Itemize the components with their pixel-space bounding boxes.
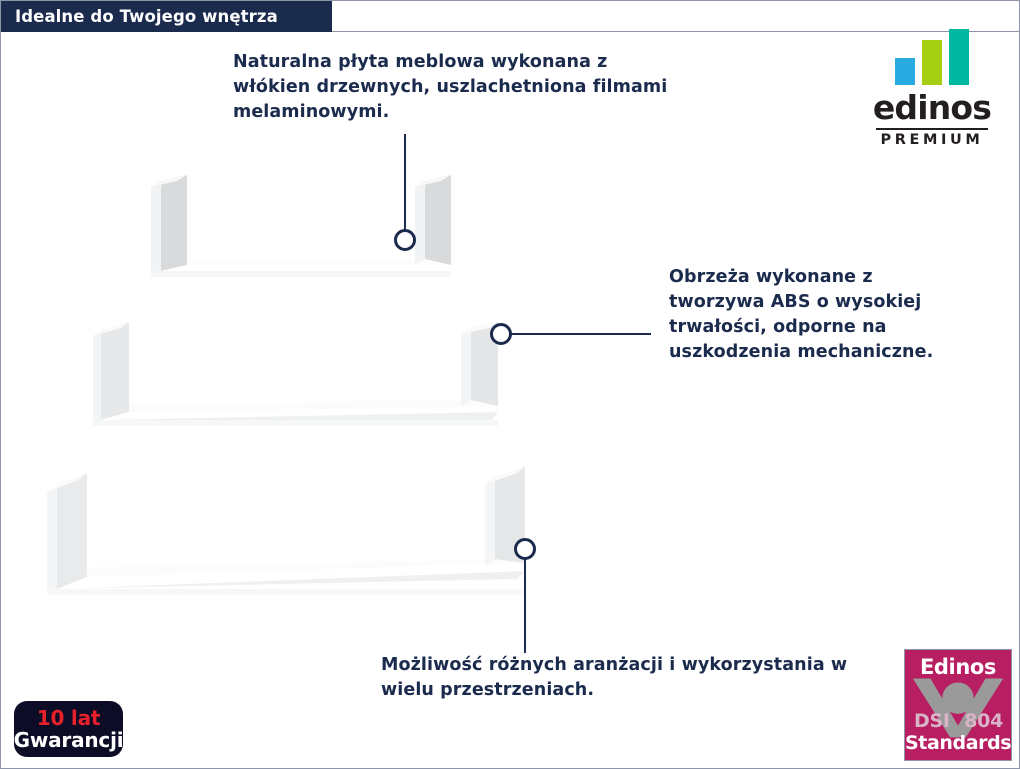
logo-tagline-text: PREMIUM <box>857 133 1007 148</box>
dsi-label-text: Standards <box>905 732 1011 754</box>
logo-divider <box>876 128 988 130</box>
warranty-years-text: 10 lat <box>37 708 101 728</box>
annotation-material: Naturalna płyta meblowa wykonana z włóki… <box>233 50 683 125</box>
logo-bar-2 <box>922 40 942 85</box>
infographic-canvas: Idealne do Twojego wnętrza <box>0 0 1020 769</box>
header-bar: Idealne do Twojego wnętrza <box>1 1 332 32</box>
logo-bar-3 <box>949 29 969 85</box>
callout-line-material <box>404 134 406 240</box>
callout-line-versatility <box>524 559 526 653</box>
logo-bar-1 <box>895 58 915 85</box>
annotation-edging: Obrzeża wykonane z tworzywa ABS o wysoki… <box>669 265 969 364</box>
dsi-brand-text: Edinos <box>905 655 1011 679</box>
warranty-badge: 10 lat Gwarancji <box>14 701 123 757</box>
dsi-code-right: 804 <box>964 710 1003 732</box>
shelf-medium <box>93 316 513 428</box>
dsi-standards-badge: Edinos DSI 804 Standards <box>904 649 1012 761</box>
page-title: Idealne do Twojego wnętrza <box>15 7 278 26</box>
annotation-versatility: Możliwość różnych aranżacji i wykorzysta… <box>381 653 881 703</box>
logo-bars-icon <box>857 29 1007 85</box>
callout-dot-material[interactable] <box>394 229 416 251</box>
shelf-small <box>151 173 461 283</box>
dsi-code-left: DSI <box>914 710 950 732</box>
callout-dot-edging[interactable] <box>490 323 512 345</box>
callout-dot-versatility[interactable] <box>514 538 536 560</box>
edinos-logo: edinos PREMIUM <box>857 29 1007 147</box>
warranty-label-text: Gwarancji <box>14 730 124 750</box>
callout-line-edging <box>511 333 651 335</box>
logo-brand-text: edinos <box>857 91 1007 124</box>
shelf-large <box>47 459 537 599</box>
